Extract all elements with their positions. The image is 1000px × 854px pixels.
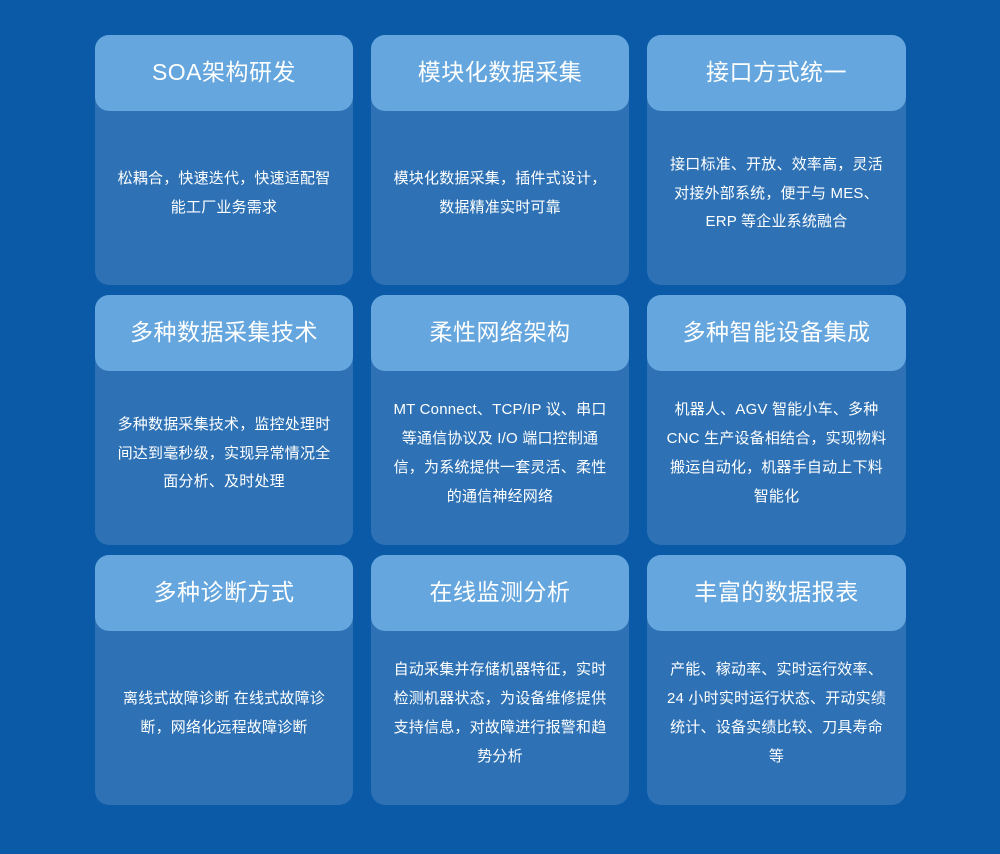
- feature-card-body: 接口标准、开放、效率高，灵活对接外部系统，便于与 MES、ERP 等企业系统融合: [647, 111, 906, 285]
- feature-card-description: 多种数据采集技术，监控处理时间达到毫秒级，实现异常情况全面分析、及时处理: [111, 411, 337, 497]
- feature-card-header: 多种数据采集技术: [95, 295, 353, 371]
- feature-card-description: 机器人、AGV 智能小车、多种 CNC 生产设备相结合，实现物料搬运自动化，机器…: [663, 396, 890, 511]
- feature-card-title: SOA架构研发: [152, 60, 296, 85]
- feature-card-title: 模块化数据采集: [418, 60, 583, 85]
- feature-card-description: 产能、稼动率、实时运行效率、24 小时实时运行状态、开动实绩统计、设备实绩比较、…: [663, 656, 890, 771]
- feature-card-header: 多种诊断方式: [95, 555, 353, 631]
- feature-card-description: 自动采集并存储机器特征，实时检测机器状态，为设备维修提供支持信息，对故障进行报警…: [387, 656, 613, 771]
- feature-card-body: 自动采集并存储机器特征，实时检测机器状态，为设备维修提供支持信息，对故障进行报警…: [371, 631, 629, 805]
- feature-card-header: 在线监测分析: [371, 555, 629, 631]
- feature-card[interactable]: 丰富的数据报表 产能、稼动率、实时运行效率、24 小时实时运行状态、开动实绩统计…: [647, 555, 906, 805]
- feature-card[interactable]: 接口方式统一 接口标准、开放、效率高，灵活对接外部系统，便于与 MES、ERP …: [647, 35, 906, 285]
- feature-card-header: 模块化数据采集: [371, 35, 629, 111]
- feature-card-body: 松耦合，快速迭代，快速适配智能工厂业务需求: [95, 111, 353, 285]
- feature-card-title: 在线监测分析: [430, 580, 571, 605]
- feature-card-body: 产能、稼动率、实时运行效率、24 小时实时运行状态、开动实绩统计、设备实绩比较、…: [647, 631, 906, 805]
- feature-card-header: 柔性网络架构: [371, 295, 629, 371]
- feature-card-grid: SOA架构研发 松耦合，快速迭代，快速适配智能工厂业务需求 模块化数据采集 模块…: [95, 35, 907, 805]
- feature-card[interactable]: 模块化数据采集 模块化数据采集，插件式设计，数据精准实时可靠: [371, 35, 629, 285]
- feature-card-title: 多种数据采集技术: [130, 320, 318, 345]
- feature-card-header: 丰富的数据报表: [647, 555, 906, 631]
- feature-card[interactable]: 多种智能设备集成 机器人、AGV 智能小车、多种 CNC 生产设备相结合，实现物…: [647, 295, 906, 545]
- feature-card[interactable]: 在线监测分析 自动采集并存储机器特征，实时检测机器状态，为设备维修提供支持信息，…: [371, 555, 629, 805]
- feature-card-description: 离线式故障诊断 在线式故障诊断，网络化远程故障诊断: [111, 685, 337, 743]
- feature-card-body: 多种数据采集技术，监控处理时间达到毫秒级，实现异常情况全面分析、及时处理: [95, 371, 353, 545]
- feature-card-description: MT Connect、TCP/IP 议、串口等通信协议及 I/O 端口控制通信，…: [387, 396, 613, 511]
- feature-card-description: 松耦合，快速迭代，快速适配智能工厂业务需求: [111, 165, 337, 223]
- feature-card-title: 接口方式统一: [706, 60, 847, 85]
- feature-card-body: 模块化数据采集，插件式设计，数据精准实时可靠: [371, 111, 629, 285]
- feature-card-title: 丰富的数据报表: [694, 580, 859, 605]
- feature-card-description: 模块化数据采集，插件式设计，数据精准实时可靠: [387, 165, 613, 223]
- feature-card[interactable]: 多种诊断方式 离线式故障诊断 在线式故障诊断，网络化远程故障诊断: [95, 555, 353, 805]
- feature-card-header: 多种智能设备集成: [647, 295, 906, 371]
- feature-card-header: 接口方式统一: [647, 35, 906, 111]
- feature-card[interactable]: SOA架构研发 松耦合，快速迭代，快速适配智能工厂业务需求: [95, 35, 353, 285]
- feature-card-title: 多种诊断方式: [154, 580, 295, 605]
- feature-card-header: SOA架构研发: [95, 35, 353, 111]
- feature-card[interactable]: 多种数据采集技术 多种数据采集技术，监控处理时间达到毫秒级，实现异常情况全面分析…: [95, 295, 353, 545]
- feature-card-title: 多种智能设备集成: [683, 320, 871, 345]
- feature-card-body: 机器人、AGV 智能小车、多种 CNC 生产设备相结合，实现物料搬运自动化，机器…: [647, 371, 906, 545]
- feature-card-title: 柔性网络架构: [430, 320, 571, 345]
- feature-card-body: 离线式故障诊断 在线式故障诊断，网络化远程故障诊断: [95, 631, 353, 805]
- feature-card[interactable]: 柔性网络架构 MT Connect、TCP/IP 议、串口等通信协议及 I/O …: [371, 295, 629, 545]
- feature-card-description: 接口标准、开放、效率高，灵活对接外部系统，便于与 MES、ERP 等企业系统融合: [663, 151, 890, 237]
- feature-card-body: MT Connect、TCP/IP 议、串口等通信协议及 I/O 端口控制通信，…: [371, 371, 629, 545]
- feature-card-board: SOA架构研发 松耦合，快速迭代，快速适配智能工厂业务需求 模块化数据采集 模块…: [0, 0, 1000, 854]
